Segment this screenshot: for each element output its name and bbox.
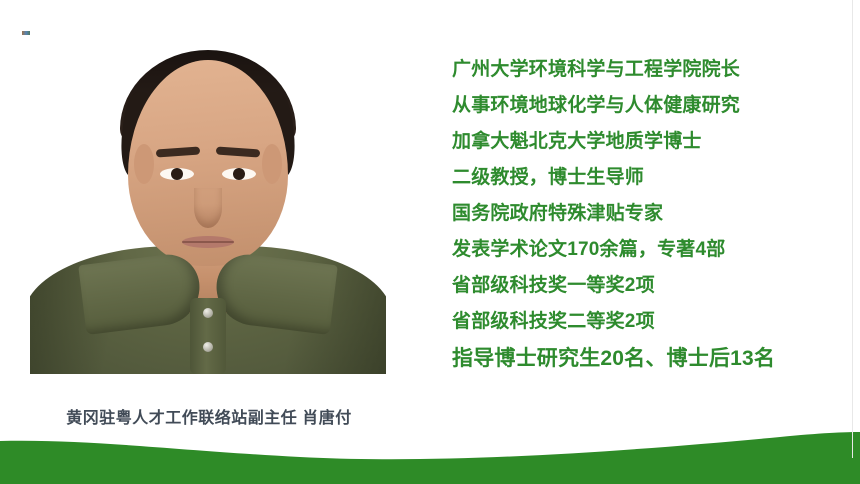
eye-right: [222, 168, 256, 180]
nose-shape: [194, 188, 222, 228]
slide-canvas: 黄冈驻粤人才工作联络站副主任 肖唐付 广州大学环境科学与工程学院院长 从事环境地…: [0, 0, 860, 484]
pupil-left: [171, 168, 183, 180]
ear-right: [262, 144, 282, 184]
wave-shape: [0, 432, 860, 484]
slide-right-edge-rule: [852, 0, 853, 458]
ear-left: [134, 144, 154, 184]
credentials-list: 广州大学环境科学与工程学院院长 从事环境地球化学与人体健康研究 加拿大魁北克大学…: [452, 60, 844, 369]
photo-caption: 黄冈驻粤人才工作联络站副主任 肖唐付: [30, 404, 388, 428]
pupil-right: [233, 168, 245, 180]
credential-line: 广州大学环境科学与工程学院院长: [452, 60, 844, 79]
credential-line: 国务院政府特殊津贴专家: [452, 204, 844, 223]
portrait-photo: [30, 22, 386, 374]
credential-line: 发表学术论文170余篇，专著4部: [452, 240, 844, 259]
credential-line: 加拿大魁北克大学地质学博士: [452, 132, 844, 151]
credential-line: 省部级科技奖一等奖2项: [452, 276, 844, 295]
credential-line: 二级教授，博士生导师: [452, 168, 844, 187]
shirt-button-lower: [203, 342, 213, 352]
credential-line: 指导博士研究生20名、博士后13名: [452, 348, 844, 369]
credential-line: 从事环境地球化学与人体健康研究: [452, 96, 844, 115]
portrait-photo-content: [30, 22, 386, 374]
mouth-line: [182, 241, 234, 243]
credential-line: 省部级科技奖二等奖2项: [452, 312, 844, 331]
shirt-button-upper: [203, 308, 213, 318]
bottom-green-wave: [0, 428, 860, 484]
eye-left: [160, 168, 194, 180]
